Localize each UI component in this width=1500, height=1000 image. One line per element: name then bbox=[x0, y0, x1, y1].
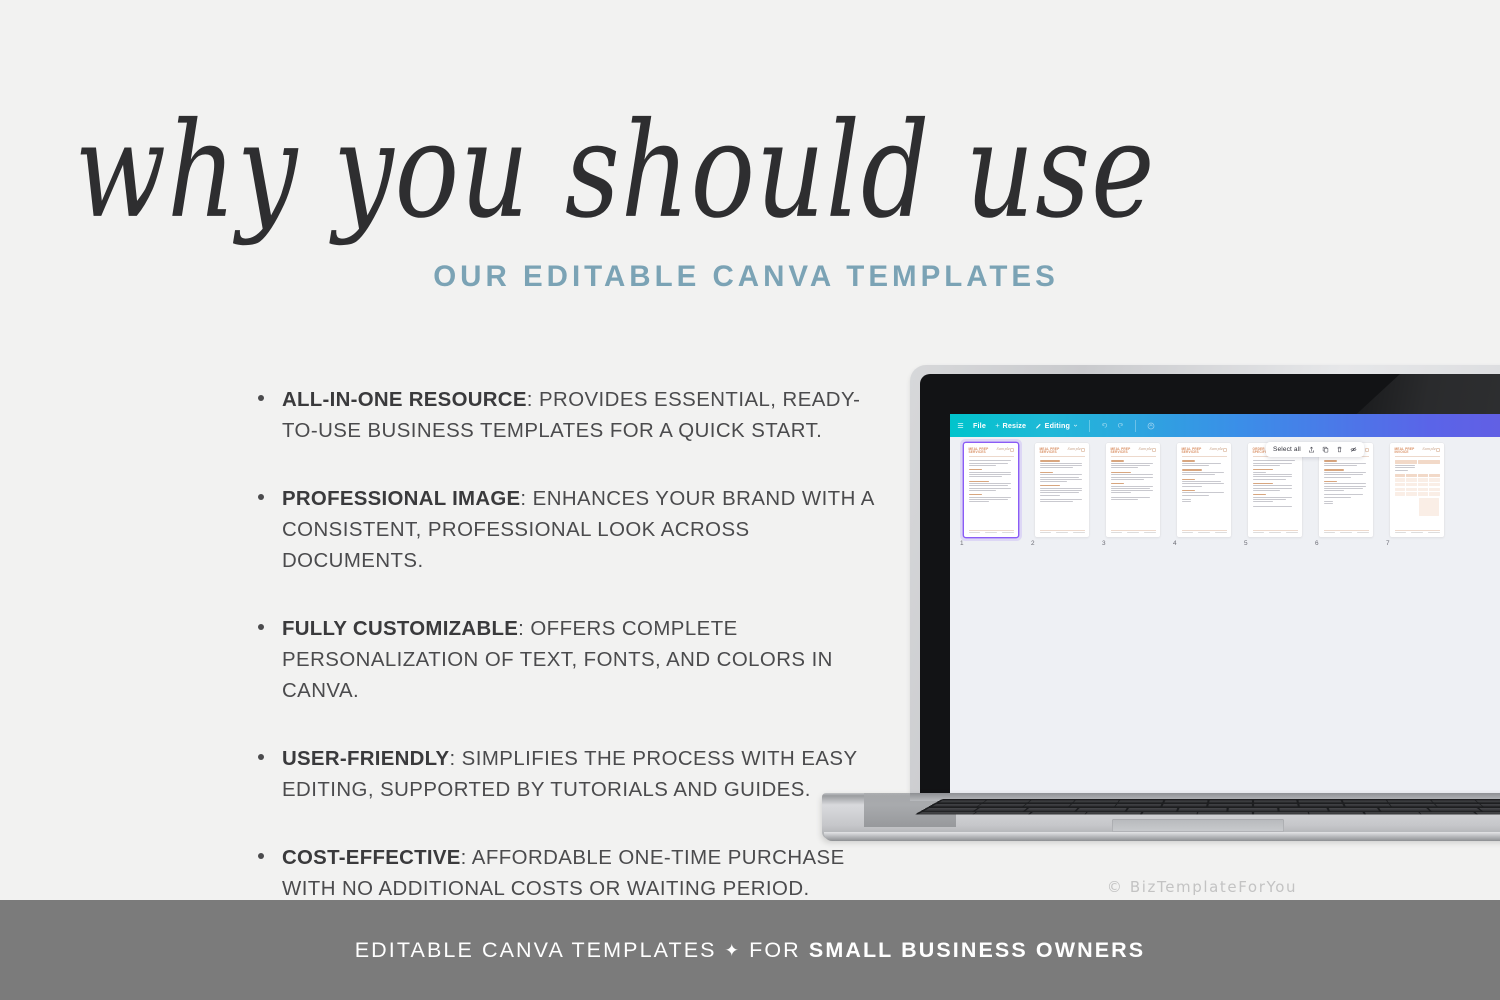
page-badge-icon bbox=[1223, 448, 1226, 452]
bullet-dot-icon bbox=[258, 624, 264, 630]
export-arrow-icon[interactable] bbox=[1308, 446, 1315, 453]
page-badge-icon bbox=[1081, 448, 1084, 452]
page-thumbnail-strip: MEAL PREP SERVICES Sample bbox=[950, 443, 1500, 547]
page-thumbnail-cell[interactable]: MEAL PREP INVOICE Sample bbox=[1384, 443, 1455, 547]
editing-mode-button[interactable]: Editing bbox=[1035, 421, 1077, 430]
list-item: USER-FRIENDLY: SIMPLIFIES THE PROCESS WI… bbox=[255, 744, 875, 806]
file-menu-label: File bbox=[973, 421, 986, 430]
laptop-keyboard bbox=[914, 799, 1500, 815]
page-number: 7 bbox=[1386, 540, 1390, 547]
benefit-title: USER-FRIENDLY bbox=[282, 748, 449, 770]
page-doc-title: MEAL PREP SERVICES bbox=[1182, 448, 1210, 454]
canva-canvas-area[interactable] bbox=[950, 558, 1500, 800]
page-thumbnail-cell[interactable]: MEAL PREP SERVICES Sample bbox=[1029, 443, 1100, 547]
page-badge-icon bbox=[1436, 448, 1440, 452]
bullet-dot-icon bbox=[258, 853, 264, 859]
page-signature: Sample bbox=[1422, 448, 1436, 452]
list-item: PROFESSIONAL IMAGE: ENHANCES YOUR BRAND … bbox=[255, 484, 875, 577]
page-signature: Sample bbox=[1138, 448, 1152, 452]
redo-arrow-icon bbox=[1117, 422, 1124, 429]
editing-label: Editing bbox=[1045, 421, 1070, 430]
page-thumbnail-cell[interactable]: MEAL PREP SERVICES Sample bbox=[958, 443, 1029, 547]
canva-app-screen: File Resize Editing bbox=[950, 414, 1500, 800]
chevron-down-icon bbox=[1073, 423, 1078, 428]
page-doc-title: MEAL PREP SERVICES bbox=[1111, 448, 1139, 454]
list-item: ALL-IN-ONE RESOURCE: PROVIDES ESSENTIAL,… bbox=[255, 385, 875, 447]
page-thumbnail[interactable]: MEAL PREP SERVICES Sample bbox=[964, 443, 1018, 537]
page-number: 3 bbox=[1102, 540, 1106, 547]
laptop-base-front bbox=[824, 832, 1500, 841]
benefit-title: PROFESSIONAL IMAGE bbox=[282, 488, 520, 510]
duplicate-icon[interactable] bbox=[1322, 446, 1329, 453]
pencil-icon bbox=[1035, 422, 1042, 429]
benefit-title: FULLY CUSTOMIZABLE bbox=[282, 618, 518, 640]
select-all-button[interactable]: Select all bbox=[1273, 446, 1301, 453]
footer-mid-text: FOR bbox=[749, 938, 801, 962]
trash-icon[interactable] bbox=[1336, 446, 1343, 453]
watermark: © BizTemplateForYou bbox=[822, 878, 1500, 896]
list-item: FULLY CUSTOMIZABLE: OFFERS COMPLETE PERS… bbox=[255, 614, 875, 707]
undo-arrow-icon bbox=[1101, 422, 1108, 429]
footer-bold-text: SMALL BUSINESS OWNERS bbox=[809, 938, 1145, 962]
eye-off-icon[interactable] bbox=[1350, 446, 1357, 453]
page-thumbnail[interactable]: MEAL PREP INVOICE Sample bbox=[1390, 443, 1444, 537]
bullet-dot-icon bbox=[258, 754, 264, 760]
toolbar-divider bbox=[1135, 420, 1136, 432]
page-thumbnail-cell[interactable]: ORDER & SERVICE SPECIFICATIONS bbox=[1242, 443, 1313, 547]
footer-text: EDITABLE CANVA TEMPLATES ✦ FOR SMALL BUS… bbox=[355, 938, 1146, 963]
page-thumbnail[interactable]: ORDER & SERVICE SPECIFICATIONS bbox=[1248, 443, 1302, 537]
redo-button[interactable] bbox=[1117, 422, 1124, 429]
page-number: 2 bbox=[1031, 540, 1035, 547]
page-title-script: why you should use bbox=[6, 106, 1224, 238]
cloud-sync-icon[interactable] bbox=[1147, 422, 1155, 430]
page-doc-title: MEAL PREP INVOICE bbox=[1395, 448, 1423, 454]
page-badge-icon bbox=[1010, 448, 1013, 452]
resize-button[interactable]: Resize bbox=[995, 421, 1026, 430]
page-thumbnail-cell[interactable]: MEAL PREP SERVICES Sample bbox=[1100, 443, 1171, 547]
undo-button[interactable] bbox=[1101, 422, 1108, 429]
benefit-title: ALL-IN-ONE RESOURCE bbox=[282, 389, 527, 411]
page-subtitle: OUR EDITABLE CANVA TEMPLATES bbox=[262, 260, 1230, 294]
benefits-list: ALL-IN-ONE RESOURCE: PROVIDES ESSENTIAL,… bbox=[255, 385, 875, 905]
plus-icon bbox=[995, 423, 1000, 428]
page-thumbnail-cell[interactable]: ORDER & SERVICE SPECIFICATIONS bbox=[1313, 443, 1384, 547]
laptop-lid: File Resize Editing bbox=[910, 365, 1500, 800]
page-thumbnail[interactable]: MEAL PREP SERVICES Sample bbox=[1106, 443, 1160, 537]
page-thumbnail[interactable]: ORDER & SERVICE SPECIFICATIONS bbox=[1319, 443, 1373, 537]
page-number: 4 bbox=[1173, 540, 1177, 547]
footer-lead-text: EDITABLE CANVA TEMPLATES bbox=[355, 938, 717, 962]
hamburger-menu-icon[interactable] bbox=[957, 422, 964, 429]
page-number: 1 bbox=[960, 540, 964, 547]
page-thumbnail[interactable]: MEAL PREP SERVICES Sample bbox=[1035, 443, 1089, 537]
page-badge-icon bbox=[1365, 448, 1368, 452]
list-item: COST-EFFECTIVE: AFFORDABLE ONE-TIME PURC… bbox=[255, 843, 875, 905]
file-menu-button[interactable]: File bbox=[973, 421, 986, 430]
page-number: 5 bbox=[1244, 540, 1248, 547]
laptop-trackpad bbox=[1112, 819, 1284, 832]
page-signature: Sample bbox=[1067, 448, 1081, 452]
resize-label: Resize bbox=[1002, 421, 1026, 430]
selection-toolbar: Select all bbox=[1266, 442, 1364, 457]
bullet-dot-icon bbox=[258, 395, 264, 401]
laptop-base bbox=[822, 793, 1500, 839]
page-thumbnail-cell[interactable]: MEAL PREP SERVICES Sample bbox=[1171, 443, 1242, 547]
page-signature: Sample bbox=[996, 448, 1010, 452]
page-badge-icon bbox=[1152, 448, 1155, 452]
laptop-mockup: File Resize Editing bbox=[822, 365, 1500, 875]
page-signature: Sample bbox=[1209, 448, 1223, 452]
page-header: why you should use OUR EDITABLE CANVA TE… bbox=[0, 118, 1230, 294]
page-thumbnail[interactable]: MEAL PREP SERVICES Sample bbox=[1177, 443, 1231, 537]
page-doc-title: MEAL PREP SERVICES bbox=[969, 448, 997, 454]
canva-toolbar: File Resize Editing bbox=[950, 414, 1500, 437]
page-doc-title: MEAL PREP SERVICES bbox=[1040, 448, 1068, 454]
footer-bar: EDITABLE CANVA TEMPLATES ✦ FOR SMALL BUS… bbox=[0, 900, 1500, 1000]
toolbar-divider bbox=[1089, 420, 1090, 432]
star-icon: ✦ bbox=[725, 941, 741, 960]
bullet-dot-icon bbox=[258, 494, 264, 500]
page-number: 6 bbox=[1315, 540, 1319, 547]
benefit-title: COST-EFFECTIVE bbox=[282, 847, 461, 869]
laptop-bezel: File Resize Editing bbox=[920, 374, 1500, 800]
